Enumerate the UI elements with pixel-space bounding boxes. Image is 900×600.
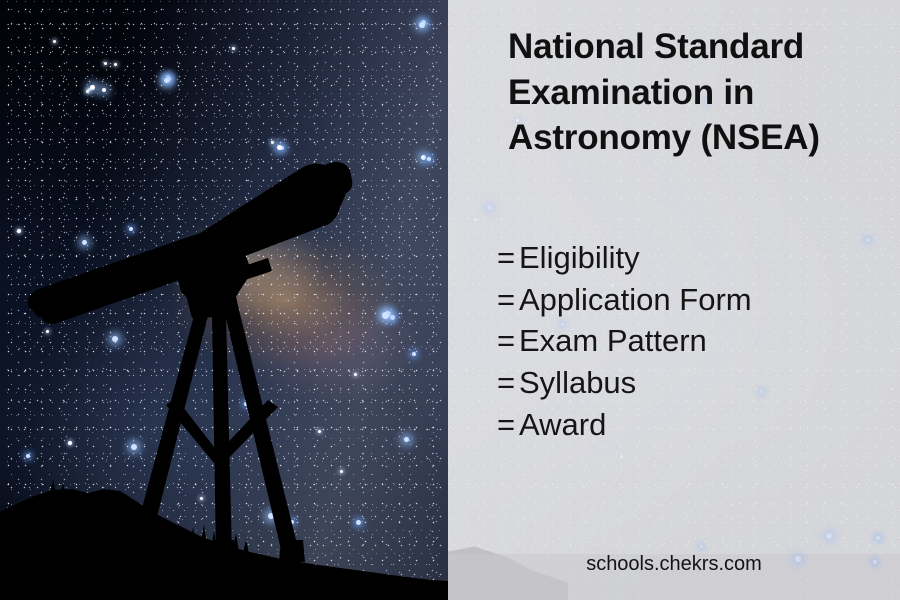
list-item-label: Award bbox=[519, 407, 606, 442]
list-item[interactable]: =Syllabus bbox=[497, 362, 752, 404]
list-item[interactable]: =Application Form bbox=[497, 279, 752, 321]
list-item-label: Application Form bbox=[519, 282, 752, 317]
title-line-1: National Standard bbox=[508, 24, 888, 70]
title-line-3: Astronomy (NSEA) bbox=[508, 115, 888, 161]
list-item-label: Exam Pattern bbox=[519, 323, 707, 358]
bullet-marker-icon: = bbox=[497, 404, 519, 446]
list-item-label: Syllabus bbox=[519, 365, 636, 400]
list-item[interactable]: =Award bbox=[497, 404, 752, 446]
bullet-marker-icon: = bbox=[497, 362, 519, 404]
page-title: National Standard Examination in Astrono… bbox=[508, 24, 888, 161]
list-item[interactable]: =Exam Pattern bbox=[497, 320, 752, 362]
topic-list: =Eligibility =Application Form =Exam Pat… bbox=[497, 237, 752, 445]
nsea-banner: National Standard Examination in Astrono… bbox=[0, 0, 900, 600]
bullet-marker-icon: = bbox=[497, 237, 519, 279]
panel-content: National Standard Examination in Astrono… bbox=[448, 0, 900, 600]
site-watermark: schools.chekrs.com bbox=[448, 553, 900, 576]
bullet-marker-icon: = bbox=[497, 279, 519, 321]
bullet-marker-icon: = bbox=[497, 320, 519, 362]
list-item[interactable]: =Eligibility bbox=[497, 237, 752, 279]
list-item-label: Eligibility bbox=[519, 240, 640, 275]
title-line-2: Examination in bbox=[508, 70, 888, 116]
